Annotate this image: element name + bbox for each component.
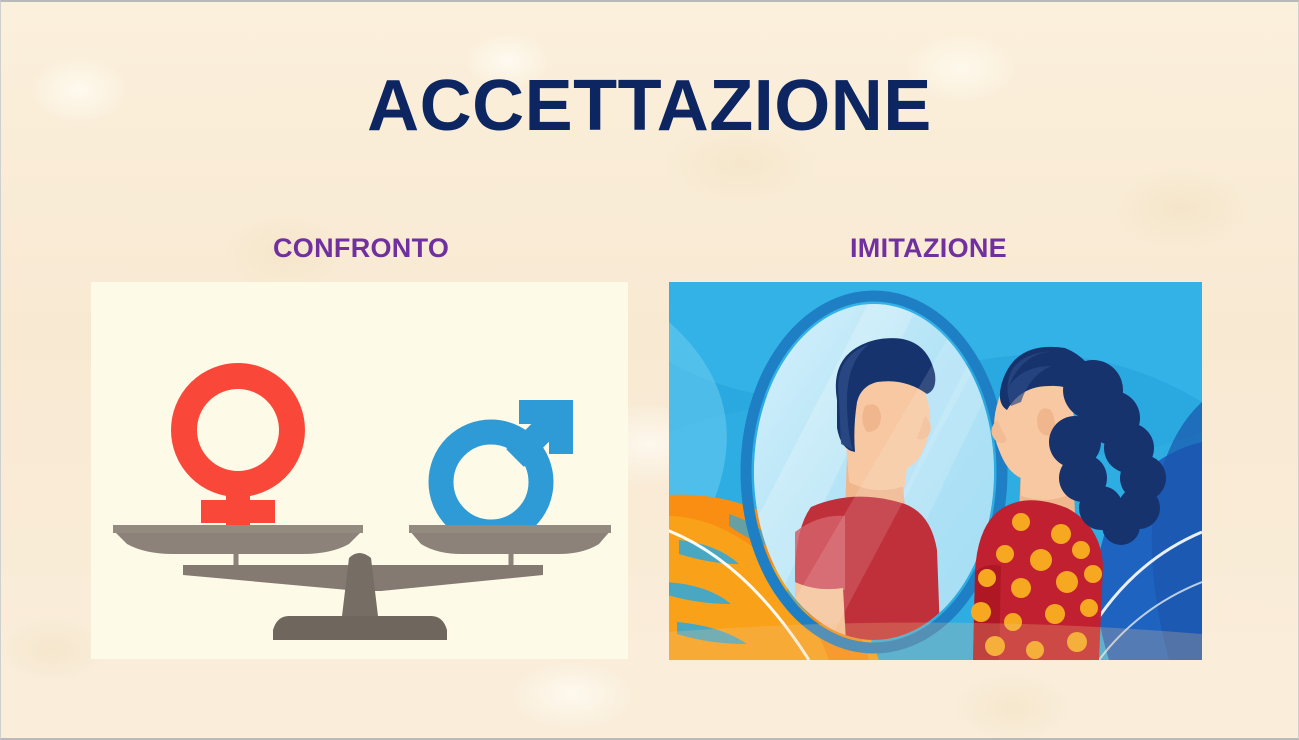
column-caption-imitazione: IMITAZIONE	[850, 233, 1007, 264]
scale-base	[273, 616, 447, 640]
balance-scale-graphic	[91, 282, 628, 659]
column-caption-confronto: CONFRONTO	[273, 233, 449, 264]
mirror-scene-graphic	[669, 282, 1202, 660]
scale-pan-left	[113, 525, 363, 554]
page-title: ACCETTAZIONE	[1, 70, 1298, 142]
scale-pan-right	[409, 525, 611, 554]
illustration-balance-scale	[91, 282, 628, 659]
slide-canvas: ACCETTAZIONE CONFRONTO IMITAZIONE	[0, 0, 1299, 740]
illustration-mirror-scene	[669, 282, 1202, 660]
